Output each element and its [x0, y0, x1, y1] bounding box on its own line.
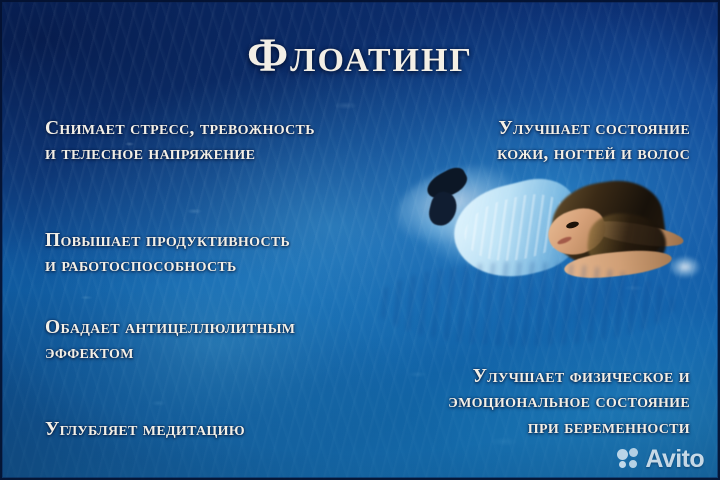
floating-promo-poster: Флоатинг Снимает стресс, тревожность и т…	[0, 0, 720, 480]
poster-border	[0, 0, 720, 480]
